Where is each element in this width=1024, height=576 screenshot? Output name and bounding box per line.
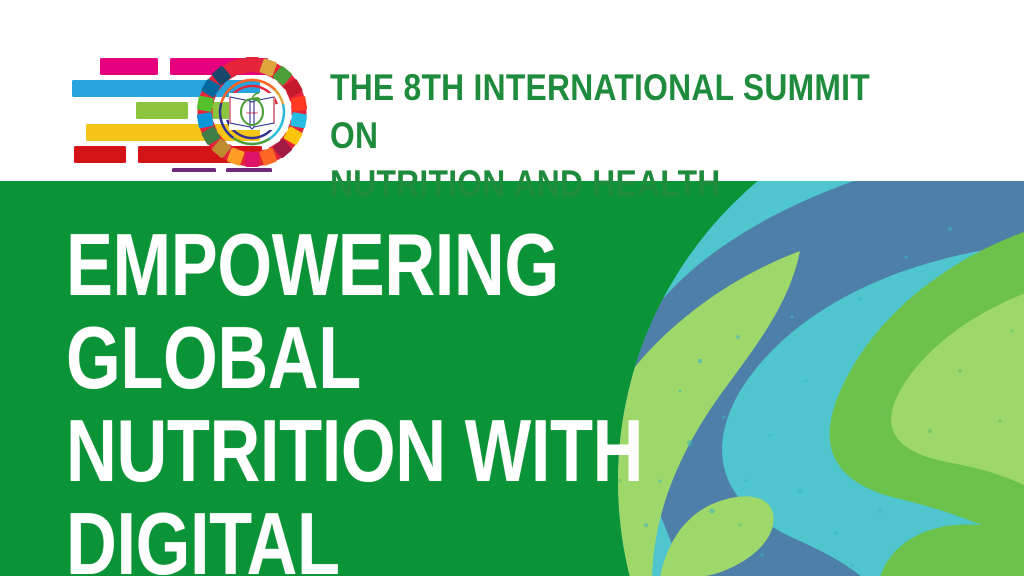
summit-title: THE 8TH INTERNATIONAL SUMMIT ON NUTRITIO…	[330, 64, 898, 208]
book-and-apple-emblem: nutrition	[229, 93, 275, 130]
summit-logo[interactable]: nutrition	[64, 52, 314, 172]
apple-label: nutrition	[246, 111, 258, 115]
conference-banner: EMPOWERING GLOBAL NUTRITION WITH DIGITAL…	[0, 0, 1024, 576]
header-band: nutrition THE 8TH INTERNATIONAL SUMMIT O…	[0, 0, 1024, 181]
main-headline: EMPOWERING GLOBAL NUTRITION WITH DIGITAL…	[66, 218, 832, 576]
